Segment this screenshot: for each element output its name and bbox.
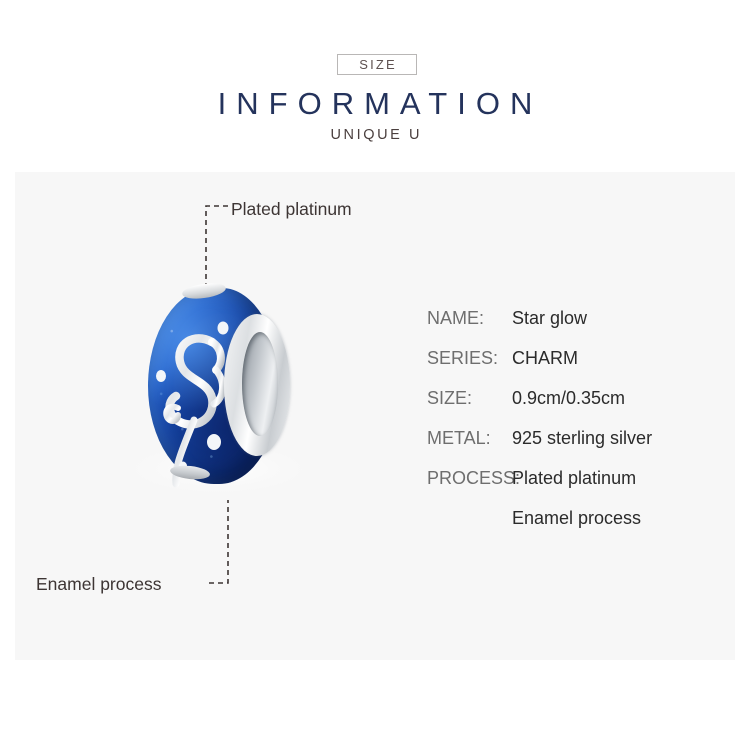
bead-center-hole — [242, 332, 278, 436]
callout-label-enamel-process: Enamel process — [36, 574, 161, 595]
spec-row-process-continued: Enamel process — [427, 508, 727, 548]
spec-row-name: NAME: Star glow — [427, 308, 727, 348]
spec-row-process: PROCESS: Plated platinum — [427, 468, 727, 508]
spec-value-process-secondary: Enamel process — [512, 508, 641, 529]
spec-label-name: NAME: — [427, 308, 512, 329]
callout-label-plated-platinum: Plated platinum — [231, 199, 352, 220]
spec-value-name: Star glow — [512, 308, 587, 329]
spec-row-size: SIZE: 0.9cm/0.35cm — [427, 388, 727, 428]
spec-value-size: 0.9cm/0.35cm — [512, 388, 625, 409]
spec-row-series: SERIES: CHARM — [427, 348, 727, 388]
spec-label-series: SERIES: — [427, 348, 512, 369]
specification-list: NAME: Star glow SERIES: CHARM SIZE: 0.9c… — [427, 308, 727, 548]
spec-label-process: PROCESS: — [427, 468, 512, 489]
spec-value-metal: 925 sterling silver — [512, 428, 652, 449]
spec-label-size: SIZE: — [427, 388, 512, 409]
spec-row-metal: METAL: 925 sterling silver — [427, 428, 727, 468]
spec-value-process: Plated platinum — [512, 468, 636, 489]
spec-label-metal: METAL: — [427, 428, 512, 449]
bead-swirl-decoration — [120, 270, 320, 530]
spec-value-series: CHARM — [512, 348, 578, 369]
product-image — [120, 270, 320, 530]
